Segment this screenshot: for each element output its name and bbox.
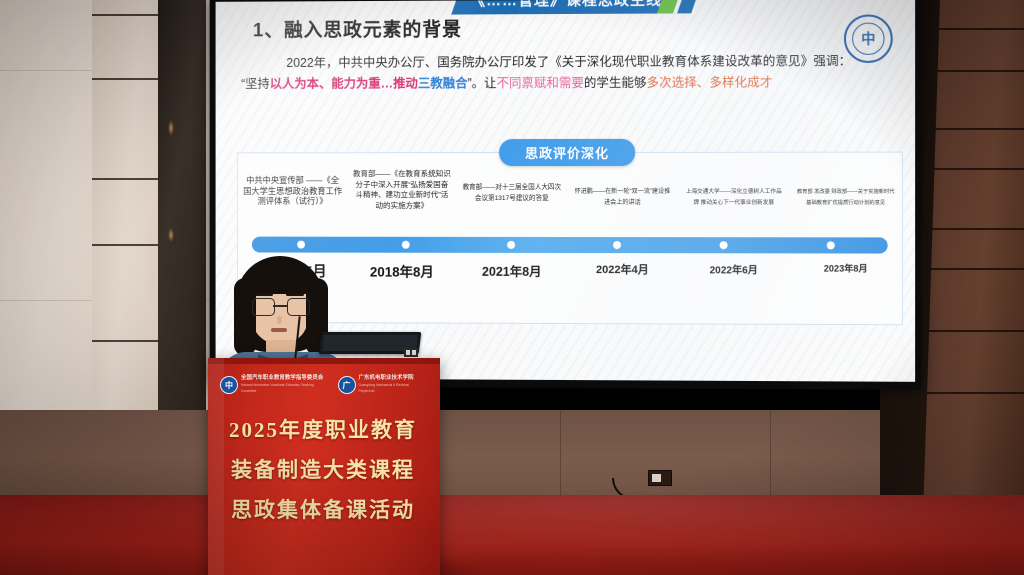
timeline-node bbox=[613, 241, 621, 249]
lectern-sign-line: 思政集体备课活动 bbox=[222, 490, 424, 530]
presenter-nose bbox=[277, 316, 282, 324]
logo-gdmec-polytechnic: 广 广东机电职业技术学院 Guangdong Mechanical & Elec… bbox=[338, 375, 426, 395]
timeline-pill-label: 思政评价深化 bbox=[499, 139, 635, 166]
highlight-talent: 不同禀赋和需要 bbox=[497, 76, 584, 90]
slide-paragraph: 2022年，中共中央办公厅、国务院办公厅印发了《关于深化现代职业教育体系建设改革… bbox=[241, 51, 889, 95]
lectern: 中 全国汽车职业教育教学指导委员会 National Automotive Vo… bbox=[208, 358, 440, 575]
presenter-hair-fringe bbox=[246, 264, 314, 294]
slide-section-title: 1、融入思政元素的背景 bbox=[253, 14, 462, 42]
timeline-descriptions: 中共中央宣传部 ——《全国大学生思想政治教育工作测评体系（试行）》 教育部——《… bbox=[238, 167, 902, 234]
quote-open: “坚持 bbox=[241, 77, 270, 91]
timeline-item-desc: 怀进鹏——在新一轮“双一流”建设推进会上的讲话 bbox=[567, 167, 678, 233]
timeline-item-desc: 教育部——《在教育系统知识分子中深入开展“弘扬爱国奋斗精神、建功立业新时代”活动… bbox=[347, 167, 457, 233]
glasses-icon bbox=[252, 298, 308, 314]
timeline-node bbox=[720, 241, 728, 249]
timeline-date: 2021年8月 bbox=[457, 261, 567, 282]
timeline-bar bbox=[252, 237, 888, 254]
timeline-date: 2022年4月 bbox=[567, 261, 678, 282]
slide-banner: 《……管理》课程思政主线 bbox=[451, 0, 681, 15]
timeline-node bbox=[827, 241, 835, 249]
lectern-sign: 2025年度职业教育 装备制造大类课程 思政集体备课活动 bbox=[222, 410, 424, 530]
logo-auto-vocational-committee: 中 全国汽车职业教育教学指导委员会 National Automotive Vo… bbox=[220, 375, 330, 395]
paragraph-line-1: 2022年，中共中央办公厅、国务院办公厅印发了《关于深化现代职业教育体系建设改革… bbox=[241, 51, 889, 74]
timeline-item-desc: 上海交通大学——深化立德树人工作品牌 推动关心下一代事业创新发展 bbox=[678, 167, 790, 233]
wall-light-glint bbox=[168, 120, 174, 136]
timeline-item-desc: 教育部——对十三届全国人大四次会议第1317号建议的答复 bbox=[457, 167, 567, 233]
highlight-three-fusion: 三教融合 bbox=[418, 76, 468, 90]
polytechnic-logo-sub: Guangdong Mechanical & Electrical Polyte… bbox=[359, 382, 426, 395]
committee-badge-icon: 中 bbox=[220, 376, 238, 394]
lectern-sign-line: 装备制造大类课程 bbox=[222, 450, 424, 490]
highlight-people-first: 以人为本、能力为重…推动 bbox=[270, 76, 418, 90]
presenter-hair-left bbox=[234, 278, 256, 356]
committee-logo-sub: National Automotive Vocational Education… bbox=[241, 382, 330, 395]
lectern-top-edge bbox=[208, 358, 440, 364]
left-wall-recess bbox=[158, 0, 206, 420]
paragraph-line-2: “坚持以人为本、能力为重…推动三教融合”。让不同禀赋和需要的学生能够多次选择、多… bbox=[241, 72, 889, 95]
presenter-mouth bbox=[271, 328, 287, 332]
lectern-logo-row: 中 全国汽车职业教育教学指导委员会 National Automotive Vo… bbox=[220, 372, 426, 398]
paragraph-mid: 的学生能够 bbox=[584, 76, 647, 90]
institution-logo-glyph: 中 bbox=[852, 23, 885, 55]
timeline-date: 2022年6月 bbox=[678, 261, 790, 282]
lectern-sign-line: 2025年度职业教育 bbox=[222, 410, 424, 450]
quote-close: ”。让 bbox=[468, 76, 497, 90]
institution-logo-icon: 中 bbox=[844, 14, 893, 63]
timeline-date: 2018年8月 bbox=[347, 261, 457, 282]
lectern-connector-plate bbox=[404, 348, 418, 357]
timeline-node bbox=[507, 241, 515, 249]
highlight-choice: 多次选择、多样化成才 bbox=[647, 75, 773, 89]
timeline-date: 2023年8月 bbox=[790, 261, 902, 282]
timeline-item-desc: 教育部 发改委 财政部——关于实施新时代基础教育扩优提质行动计划的意见 bbox=[790, 167, 902, 234]
timeline-node bbox=[297, 241, 305, 249]
wall-light-glint-2 bbox=[168, 228, 174, 242]
timeline-node bbox=[402, 241, 410, 249]
timeline-item-desc: 中共中央宣传部 ——《全国大学生思想政治教育工作测评体系（试行）》 bbox=[238, 167, 347, 233]
photo-scene: 《……管理》课程思政主线 1、融入思政元素的背景 2022年，中共中央办公厅、国… bbox=[0, 0, 1024, 575]
polytechnic-badge-icon: 广 bbox=[338, 376, 356, 394]
carpet-floor bbox=[0, 495, 1024, 575]
slide-banner-title: 《……管理》课程思政主线 bbox=[470, 0, 662, 10]
